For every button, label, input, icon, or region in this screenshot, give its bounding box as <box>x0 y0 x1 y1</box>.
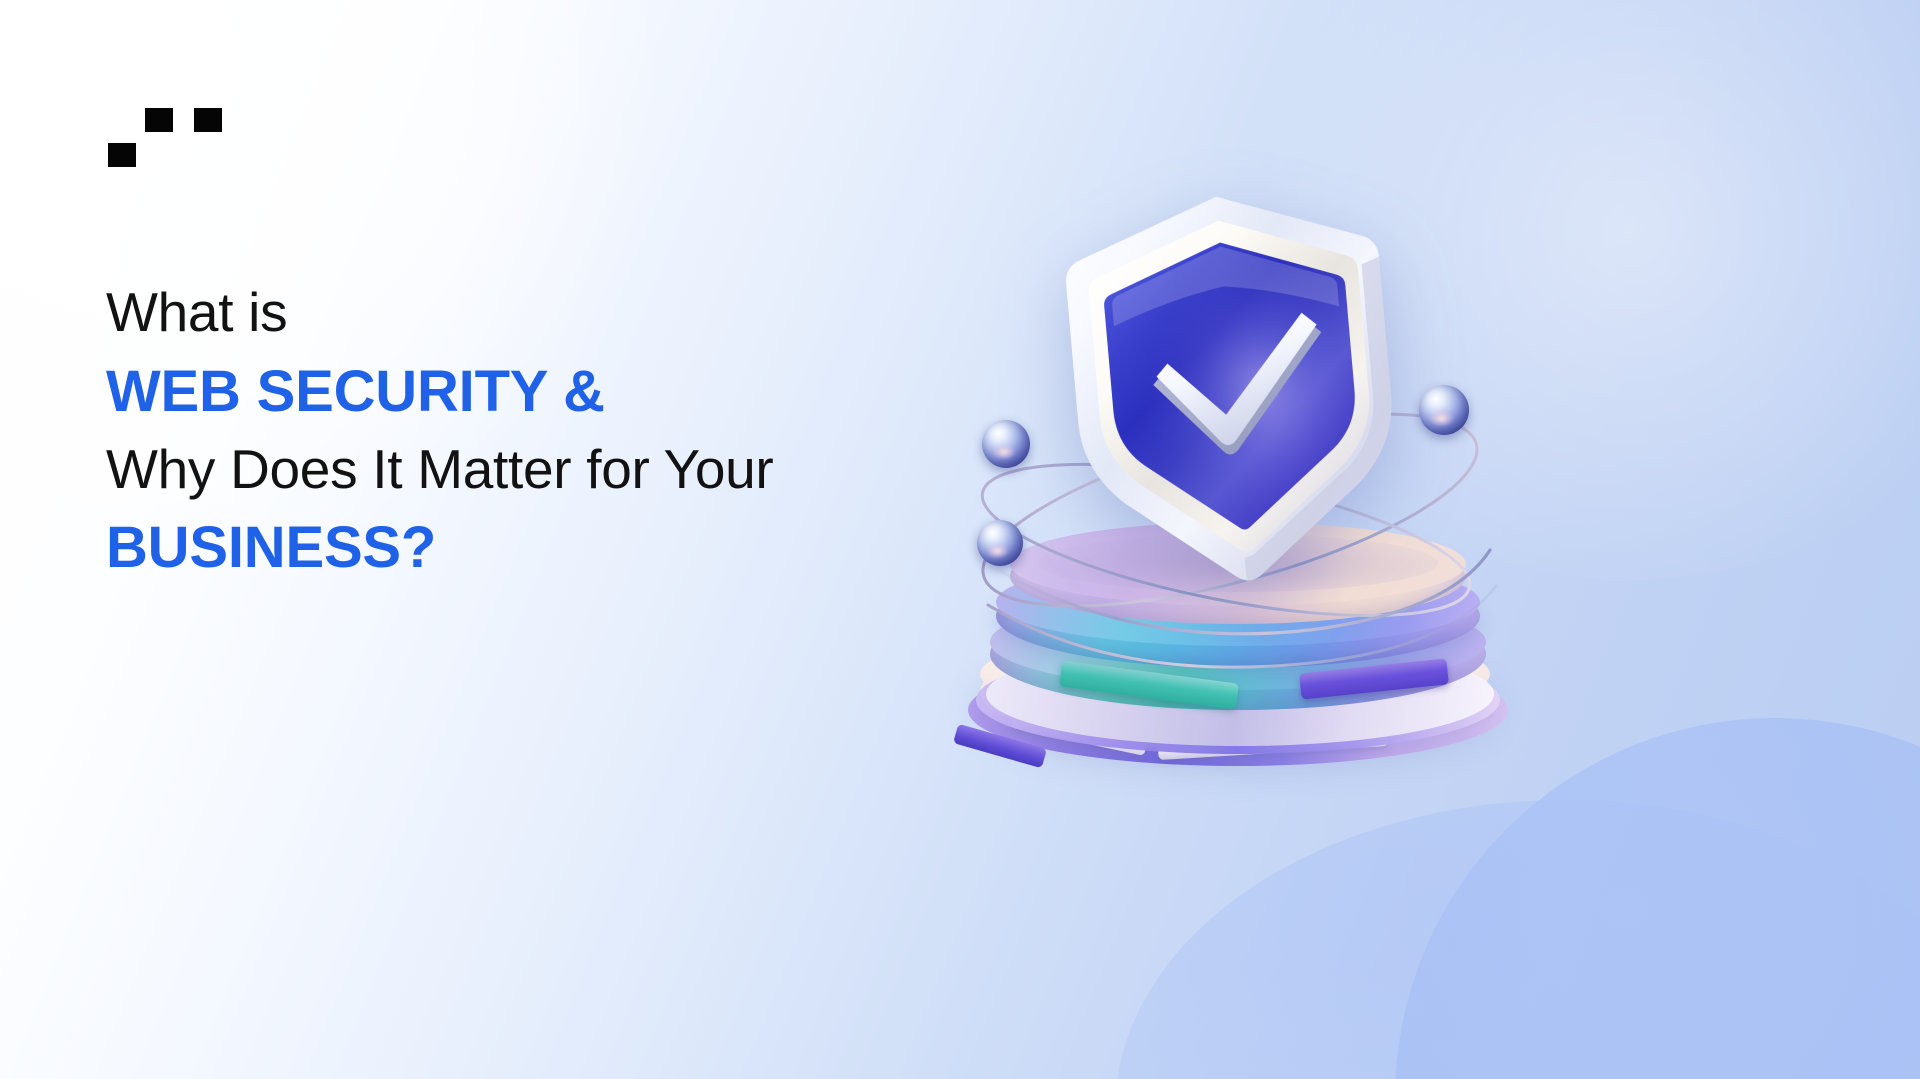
headline-line-3: Why Does It Matter for Your <box>106 434 906 506</box>
logo-square-top-left <box>145 108 173 132</box>
background-circle-bottom-right <box>1395 718 1920 1079</box>
headline-line-1: What is <box>106 277 906 349</box>
brand-logo[interactable] <box>100 78 240 158</box>
orbit-rings-front <box>930 350 1550 680</box>
logo-square-bottom <box>108 143 136 167</box>
logo-square-top-right <box>194 108 222 132</box>
banner-canvas: What is WEB SECURITY & Why Does It Matte… <box>0 0 1920 1079</box>
page-title: What is WEB SECURITY & Why Does It Matte… <box>106 277 906 586</box>
hero-illustration <box>930 170 1550 760</box>
headline-line-2: WEB SECURITY & <box>106 354 906 429</box>
headline-line-4: BUSINESS? <box>106 510 906 585</box>
